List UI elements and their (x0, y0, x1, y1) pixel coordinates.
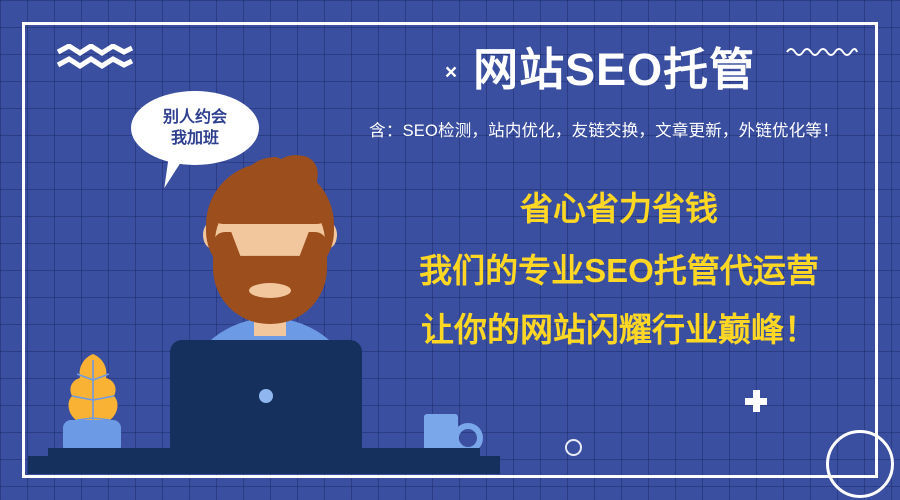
page-title-row: × 网站SEO托管 (330, 46, 870, 93)
desk-edge (28, 456, 500, 474)
character-mouth (249, 283, 291, 298)
page-title: 网站SEO托管 (473, 46, 755, 93)
speech-bubble-line-2: 我加班 (171, 128, 219, 149)
close-icon: × (445, 56, 457, 83)
small-circle-outline-icon (565, 439, 582, 456)
slogan-line-2: 我们的专业SEO托管代运营 (372, 254, 866, 289)
character-fringe (210, 178, 330, 224)
plus-icon (745, 390, 767, 412)
page-subtitle: 含：SEO检测，站内优化，友链交换，文章更新，外链优化等！ (330, 117, 878, 141)
double-zigzag-wave-icon (56, 44, 134, 70)
speech-bubble-line-1: 别人约会 (163, 107, 227, 128)
circle-outline-icon (826, 430, 894, 498)
laptop-logo-icon (259, 389, 273, 403)
slogan-line-1: 省心省力省钱 (372, 192, 866, 227)
speech-bubble: 别人约会 我加班 (131, 91, 259, 165)
seo-promo-banner: × 网站SEO托管 含：SEO检测，站内优化，友链交换，文章更新，外链优化等！ … (0, 0, 900, 500)
slogan-list: 省心省力省钱 我们的专业SEO托管代运营 让你的网站闪耀行业巅峰！ (372, 192, 866, 348)
slogan-line-3: 让你的网站闪耀行业巅峰！ (372, 313, 866, 348)
